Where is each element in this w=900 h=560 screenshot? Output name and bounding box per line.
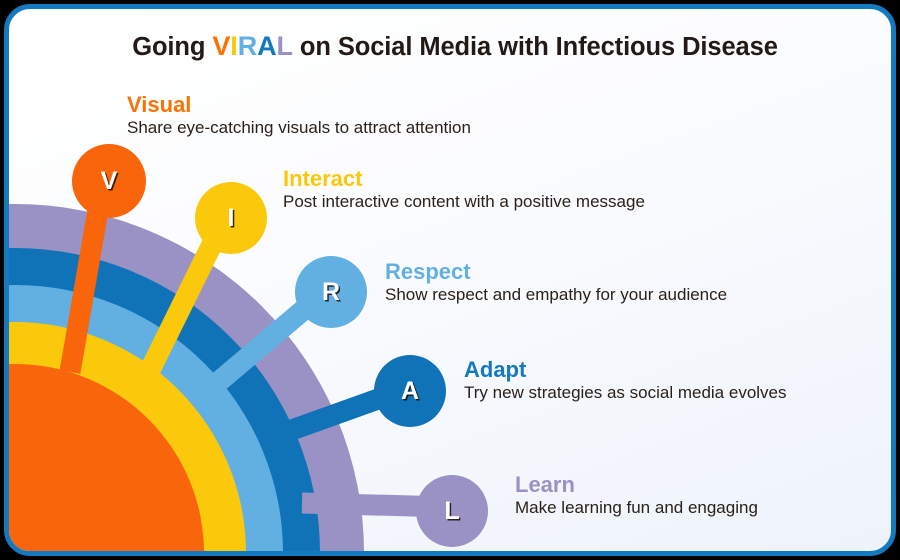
badge-letter-a: A [401,377,419,406]
step-interact: Interact Post interactive content with a… [283,167,645,212]
step-description-adapt: Try new strategies as social media evolv… [464,383,787,403]
title-acronym: VIRAL [212,31,293,61]
step-description-respect: Show respect and empathy for your audien… [385,285,727,305]
infographic-canvas: Going VIRAL on Social Media with Infecti… [0,0,900,560]
title-letter-i: I [230,31,237,61]
title-letter-r: R [238,31,257,61]
title-prefix: Going [132,33,212,61]
badge-letter-v: V [101,167,118,196]
step-description-visual: Share eye-catching visuals to attract at… [127,118,471,138]
badge-letter-l: L [444,497,459,526]
badge-letter-i: I [228,204,235,233]
step-heading-visual: Visual [127,93,471,116]
step-heading-adapt: Adapt [464,358,787,381]
step-heading-interact: Interact [283,167,645,190]
badge-respect[interactable]: R [295,256,367,328]
title-letter-l: L [277,31,293,61]
badge-adapt[interactable]: A [374,355,446,427]
infographic-frame: Going VIRAL on Social Media with Infecti… [4,4,896,556]
title-letter-a: A [257,31,276,61]
badge-learn[interactable]: L [416,475,488,547]
step-respect: Respect Show respect and empathy for you… [385,260,727,305]
page-title: Going VIRAL on Social Media with Infecti… [9,31,896,62]
badge-interact[interactable]: I [195,182,267,254]
badge-visual[interactable]: V [72,144,146,218]
step-adapt: Adapt Try new strategies as social media… [464,358,787,403]
step-description-interact: Post interactive content with a positive… [283,192,645,212]
step-heading-learn: Learn [515,473,758,496]
step-visual: Visual Share eye-catching visuals to att… [127,93,471,138]
step-heading-respect: Respect [385,260,727,283]
step-description-learn: Make learning fun and engaging [515,498,758,518]
step-learn: Learn Make learning fun and engaging [515,473,758,518]
title-letter-v: V [212,31,230,61]
title-suffix: on Social Media with Infectious Disease [293,33,778,61]
badge-letter-r: R [322,278,340,307]
